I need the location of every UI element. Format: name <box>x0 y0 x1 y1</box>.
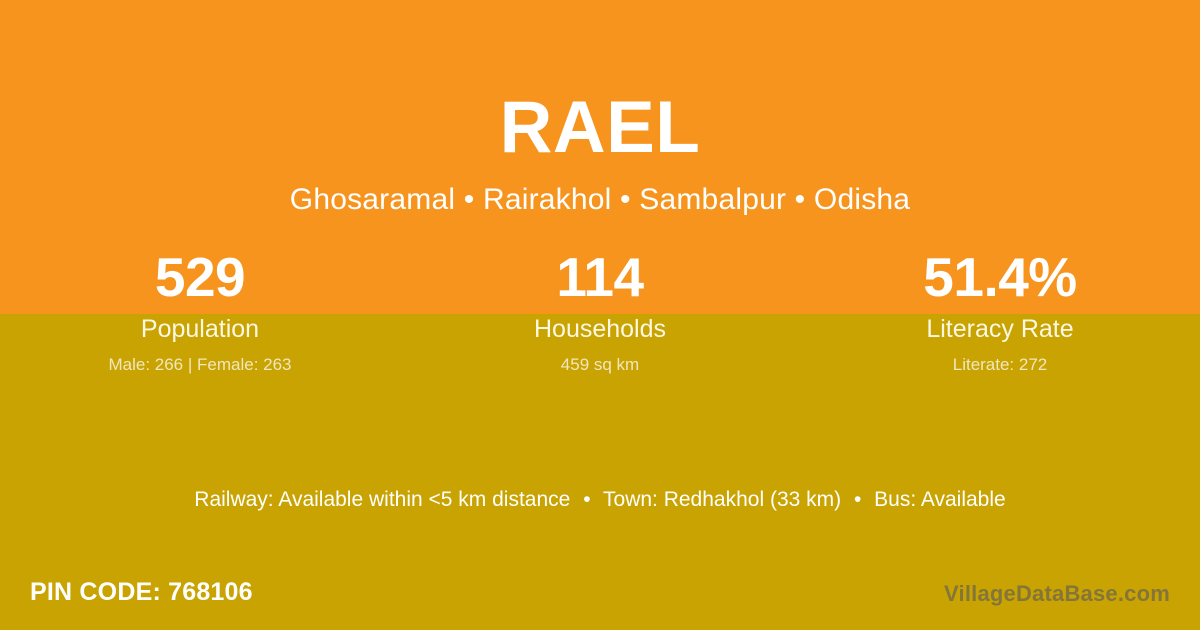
page-title: RAEL <box>0 80 1200 176</box>
stat-households: 114 Households 459 sq km <box>400 243 800 375</box>
stat-value: 114 <box>400 243 800 311</box>
stat-sublabel: 459 sq km <box>400 355 800 375</box>
stat-literacy-rate: 51.4% Literacy Rate Literate: 272 <box>800 243 1200 375</box>
bus-info: Bus: Available <box>874 488 1006 511</box>
stat-value: 529 <box>0 243 400 311</box>
info-separator: • <box>576 488 597 511</box>
stat-label: Households <box>400 315 800 343</box>
stat-label: Literacy Rate <box>800 315 1200 343</box>
stat-value: 51.4% <box>800 243 1200 311</box>
info-separator: • <box>847 488 868 511</box>
breadcrumb: Ghosaramal • Rairakhol • Sambalpur • Odi… <box>0 181 1200 219</box>
amenities-line: Railway: Available within <5 km distance… <box>0 486 1200 514</box>
brand-watermark: VillageDataBase.com <box>944 580 1170 608</box>
stat-population: 529 Population Male: 266 | Female: 263 <box>0 243 400 375</box>
stats-row: 529 Population Male: 266 | Female: 263 1… <box>0 243 1200 375</box>
railway-info: Railway: Available within <5 km distance <box>194 488 570 511</box>
town-info: Town: Redhakhol (33 km) <box>603 488 841 511</box>
stat-sublabel: Male: 266 | Female: 263 <box>0 355 400 375</box>
stat-label: Population <box>0 315 400 343</box>
stat-sublabel: Literate: 272 <box>800 355 1200 375</box>
card-footer: PIN CODE: 768106 VillageDataBase.com <box>0 572 1200 630</box>
village-info-card: RAEL Ghosaramal • Rairakhol • Sambalpur … <box>0 0 1200 630</box>
pin-code: PIN CODE: 768106 <box>30 576 253 608</box>
